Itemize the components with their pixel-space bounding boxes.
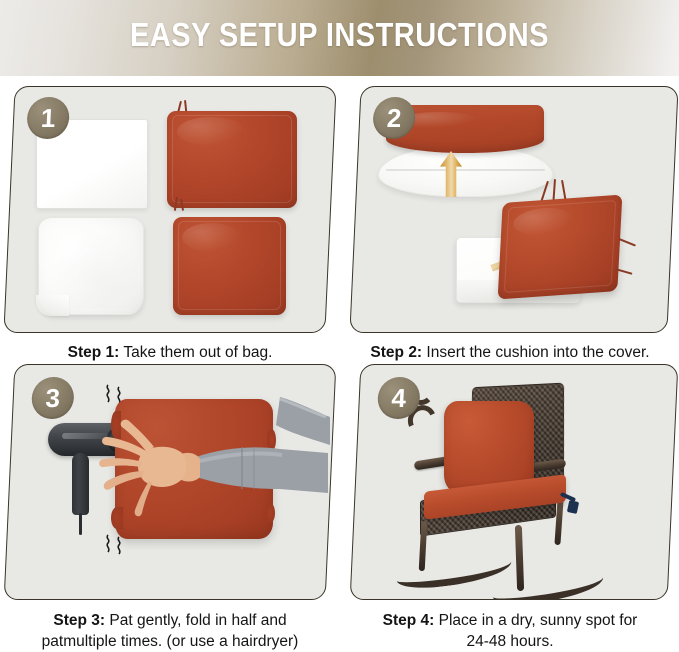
rust-back-cover [173,217,286,315]
step-4-caption-label: Step 4: [383,612,435,629]
thumb [135,481,152,516]
chair-rocker-right [491,565,606,600]
step-2-panel: 2 [349,86,678,333]
hairdryer-highlight [62,433,108,439]
steps-row-1: 1 2 Step 1: Take them out of bag. [0,86,679,361]
step-3-panel: 3 [4,364,337,600]
cover-tie-string [619,238,636,246]
sleeve-upper [276,397,330,445]
step-4-caption: Step 4: Place in a dry, sunny spot for 2… [345,610,675,652]
step-3-caption: Step 3: Pat gently, fold in half and pat… [6,610,334,652]
step-3-caption-line2: patmultiple times. (or use a hairdryer) [42,633,299,650]
step-3-caption-label: Step 3: [53,612,105,629]
steps-row-2: 3 [0,364,679,652]
step-4-panel: 4 [350,364,679,600]
step-3-caption-line1: Pat gently, fold in half and [105,612,287,629]
page-title: EASY SETUP INSTRUCTIONS [41,16,639,54]
steps-grid: 1 2 Step 1: Take them out of bag. [0,76,679,652]
pressing-hands-illustration [130,389,330,539]
step-1-caption-label: Step 1: [68,344,120,361]
palm [138,447,186,487]
step-2-caption-label: Step 2: [370,344,422,361]
rust-seat-cover [498,195,623,300]
hairdryer-handle [72,453,89,515]
step-4-caption-line2: 24-48 hours. [466,633,553,650]
white-pillow-insert [38,217,144,315]
step-1-caption: Step 1: Take them out of bag. [9,342,331,363]
wicker-rocking-chair [408,379,638,591]
header-banner: EASY SETUP INSTRUCTIONS [0,0,679,76]
step-1-caption-text: Take them out of bag. [119,344,272,361]
step-2-caption-text: Insert the cushion into the cover. [422,344,649,361]
step-1-panel: 1 [3,86,336,333]
step-2-caption: Step 2: Insert the cushion into the cove… [345,342,675,363]
step-4-caption-line1: Place in a dry, sunny spot for [434,612,637,629]
rust-seat-cover [167,111,297,208]
hairdryer-cord [79,513,82,535]
cushion-tie-navy [567,500,579,514]
